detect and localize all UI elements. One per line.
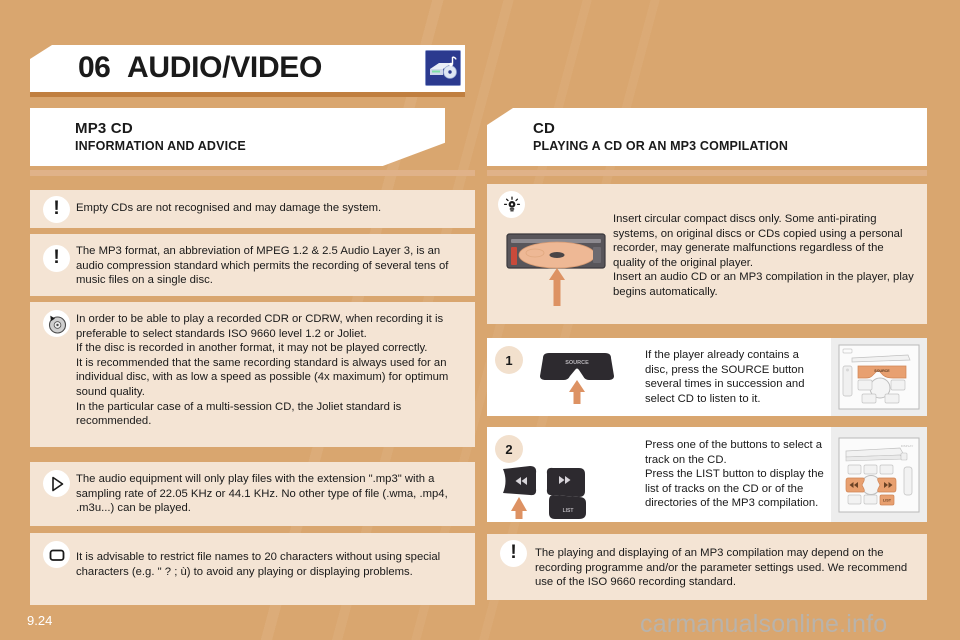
- watermark: carmanualsonline.info: [640, 610, 887, 639]
- exclamation-icon: !: [43, 196, 70, 223]
- cd-disc-icon: [43, 310, 70, 337]
- seek-and-list-buttons-figure: LIST: [497, 463, 627, 530]
- car-radio-disc-slot-figure: [505, 232, 615, 317]
- head-unit-panel-seek-list-highlight: DISPLAY LIST: [831, 427, 927, 522]
- note-text: The playing and displaying of an MP3 com…: [535, 546, 915, 590]
- note-file-names: It is advisable to restrict file names t…: [30, 533, 475, 605]
- step-number: 2: [495, 435, 523, 463]
- manual-page: 06 AUDIO/VIDEO MP3 CD INFORMATION AND AD…: [0, 0, 960, 640]
- head-unit-panel-source-highlight: SOURCE: [831, 338, 927, 416]
- note-text: Insert circular compact discs only. Some…: [613, 212, 918, 300]
- section-title: CD: [533, 120, 555, 137]
- exclamation-icon: !: [500, 540, 527, 567]
- note-mp3-format: ! The MP3 format, an abbreviation of MPE…: [30, 234, 475, 296]
- chapter-title: AUDIO/VIDEO: [127, 51, 322, 85]
- svg-text:SOURCE: SOURCE: [874, 369, 890, 373]
- section-subtitle: INFORMATION AND ADVICE: [75, 139, 246, 153]
- step-text: If the player already contains a disc, p…: [645, 348, 825, 406]
- step-number: 1: [495, 346, 523, 374]
- play-triangle-icon: [43, 470, 70, 497]
- note-iso-standards: In order to be able to play a recorded C…: [30, 302, 475, 447]
- page-number: 9.24: [27, 613, 52, 628]
- section-rule-left: [30, 170, 475, 176]
- note-empty-cds: ! Empty CDs are not recognised and may d…: [30, 190, 475, 228]
- svg-text:SOURCE: SOURCE: [565, 360, 589, 366]
- note-text: Empty CDs are not recognised and may dam…: [76, 201, 461, 216]
- note-text: In order to be able to play a recorded C…: [76, 312, 472, 429]
- audio-video-cd-icon: [425, 50, 461, 86]
- section-header-cd: CD PLAYING A CD OR AN MP3 COMPILATION: [487, 108, 927, 166]
- exclamation-icon: !: [43, 245, 70, 272]
- step-2-select-track: 2 LIST Press one of the buttons to selec…: [487, 427, 927, 522]
- tip-bulb-icon: [498, 191, 525, 218]
- source-button-figure: SOURCE: [529, 350, 629, 417]
- section-title: MP3 CD: [75, 120, 133, 137]
- note-mp3-compilation-depends: ! The playing and displaying of an MP3 c…: [487, 534, 927, 600]
- chapter-title-bar: 06 AUDIO/VIDEO: [30, 45, 465, 92]
- note-file-extension: The audio equipment will only play files…: [30, 462, 475, 526]
- svg-text:LIST: LIST: [563, 508, 574, 514]
- step-text: Press one of the buttons to select a tra…: [645, 438, 831, 511]
- note-text: The audio equipment will only play files…: [76, 472, 468, 516]
- note-insert-disc: Insert circular compact discs only. Some…: [487, 184, 927, 324]
- chapter-number: 06: [78, 51, 110, 85]
- section-header-mp3-cd: MP3 CD INFORMATION AND ADVICE: [30, 108, 445, 166]
- step-1-select-source: 1 SOURCE If the player already contains …: [487, 338, 927, 416]
- title-rule: [30, 92, 465, 97]
- screen-icon: [43, 541, 70, 568]
- section-subtitle: PLAYING A CD OR AN MP3 COMPILATION: [533, 139, 788, 153]
- note-text: The MP3 format, an abbreviation of MPEG …: [76, 244, 466, 288]
- section-rule-right: [487, 170, 927, 176]
- svg-text:DISPLAY: DISPLAY: [901, 444, 913, 448]
- note-text: It is advisable to restrict file names t…: [76, 550, 468, 579]
- svg-text:LIST: LIST: [883, 498, 892, 502]
